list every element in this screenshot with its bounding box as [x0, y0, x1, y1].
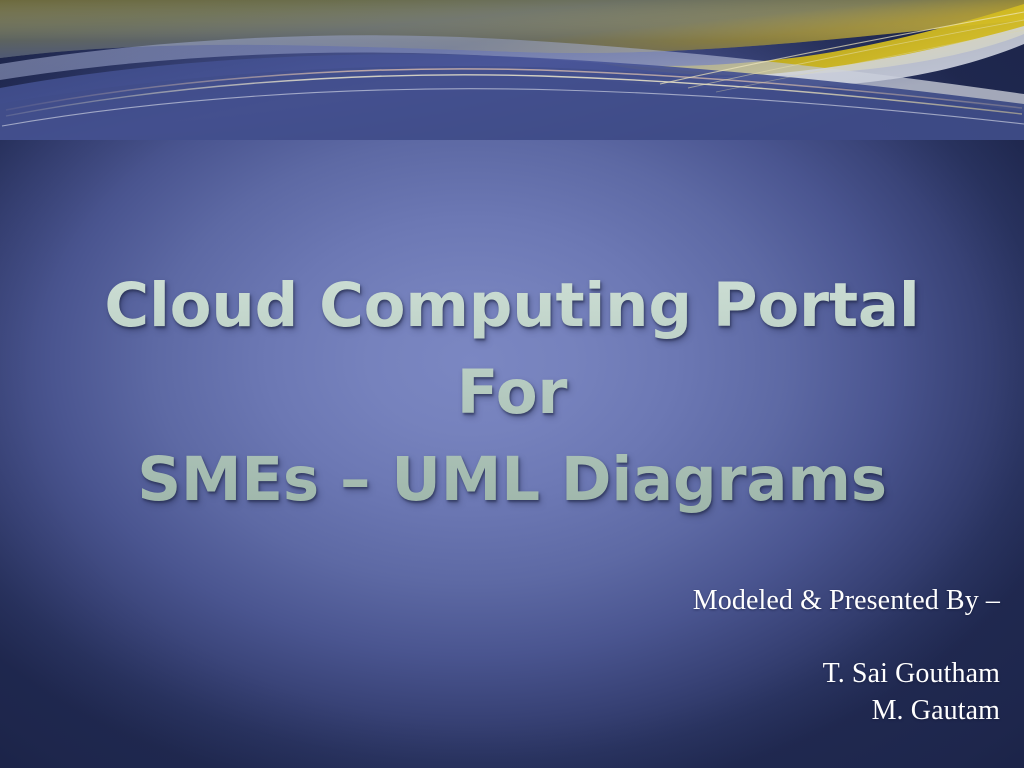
presenter-name-1: T. Sai Goutham	[480, 655, 1000, 692]
page-title: Cloud Computing Portal For SMEs – UML Di…	[60, 262, 964, 524]
presentation-slide: Cloud Computing Portal For SMEs – UML Di…	[0, 0, 1024, 768]
presenter-name-2: M. Gautam	[480, 692, 1000, 729]
subtitle-placeholder[interactable]: Modeled & Presented By – T. Sai Goutham …	[480, 582, 1000, 730]
title-placeholder[interactable]: Cloud Computing Portal For SMEs – UML Di…	[60, 262, 964, 524]
subtitle-lead-line: Modeled & Presented By –	[480, 582, 1000, 619]
subtitle-spacer	[480, 619, 1000, 655]
